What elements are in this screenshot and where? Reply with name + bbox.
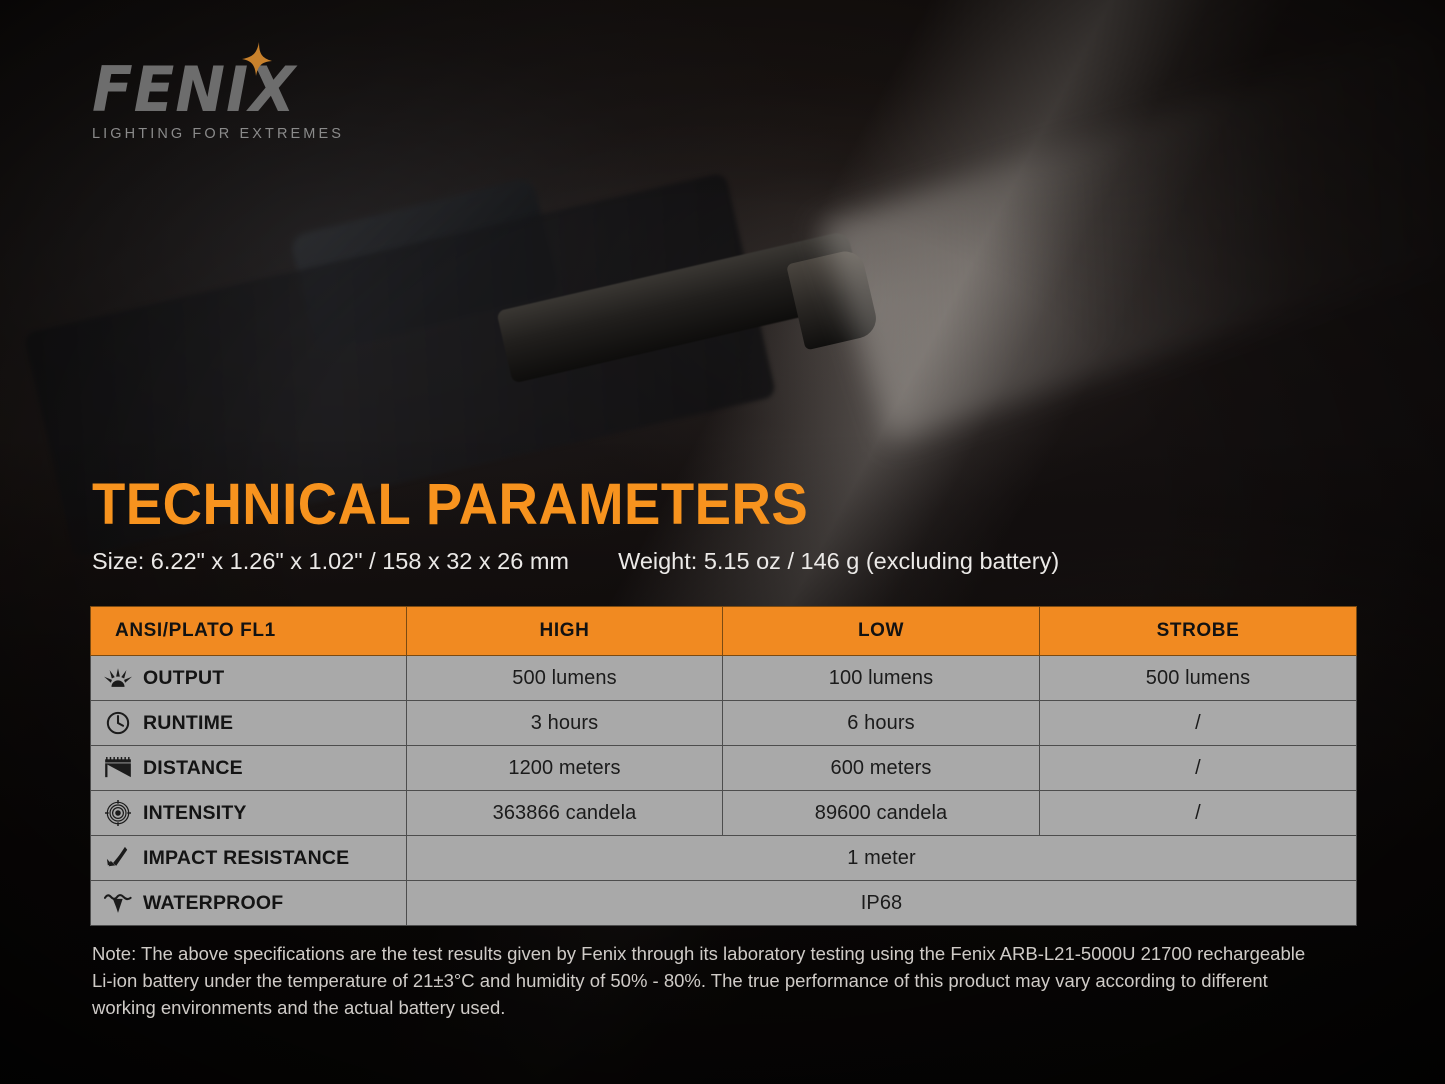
column-header-strobe: STROBE: [1040, 607, 1357, 656]
star-icon: [242, 42, 272, 76]
size-text: Size: 6.22" x 1.26" x 1.02" / 158 x 32 x…: [92, 548, 569, 574]
table-row: DISTANCE 1200 meters 600 meters /: [91, 746, 1357, 791]
row-label-text: DISTANCE: [143, 757, 243, 780]
cell-waterproof-value: IP68: [407, 881, 1357, 926]
cell-output-low: 100 lumens: [723, 656, 1040, 701]
table-row: RUNTIME 3 hours 6 hours /: [91, 701, 1357, 746]
row-label-text: OUTPUT: [143, 667, 224, 690]
row-label-runtime: RUNTIME: [91, 701, 407, 746]
product-spec-page: FENIX LIGHTING FOR EXTREMES TECHNICAL PA…: [0, 0, 1445, 1084]
cell-distance-strobe: /: [1040, 746, 1357, 791]
row-label-waterproof: WATERPROOF: [91, 881, 407, 926]
clock-icon: [103, 710, 133, 736]
size-weight-line: Size: 6.22" x 1.26" x 1.02" / 158 x 32 x…: [92, 548, 1059, 575]
table-row: WATERPROOF IP68: [91, 881, 1357, 926]
column-header-ansi: ANSI/PLATO FL1: [91, 607, 407, 656]
page-title: TECHNICAL PARAMETERS: [92, 474, 808, 536]
cell-runtime-strobe: /: [1040, 701, 1357, 746]
cell-distance-high: 1200 meters: [407, 746, 723, 791]
sunburst-icon: [103, 665, 133, 691]
row-label-text: RUNTIME: [143, 712, 233, 735]
row-label-text: IMPACT RESISTANCE: [143, 847, 349, 870]
fenix-tagline: LIGHTING FOR EXTREMES: [92, 126, 392, 142]
row-label-output: OUTPUT: [91, 656, 407, 701]
fenix-wordmark: FENIX: [92, 58, 380, 122]
table-row: OUTPUT 500 lumens 100 lumens 500 lumens: [91, 656, 1357, 701]
cell-intensity-low: 89600 candela: [723, 791, 1040, 836]
target-icon: [103, 800, 133, 826]
column-header-high: HIGH: [407, 607, 723, 656]
weight-text: Weight: 5.15 oz / 146 g (excluding batte…: [618, 548, 1059, 574]
table-row: INTENSITY 363866 candela 89600 candela /: [91, 791, 1357, 836]
row-label-impact-resistance: IMPACT RESISTANCE: [91, 836, 407, 881]
row-label-distance: DISTANCE: [91, 746, 407, 791]
beam-distance-icon: [103, 755, 133, 781]
fenix-logo: FENIX LIGHTING FOR EXTREMES: [92, 58, 392, 142]
footnote: Note: The above specifications are the t…: [92, 940, 1322, 1021]
cell-output-strobe: 500 lumens: [1040, 656, 1357, 701]
impact-arrow-icon: [103, 845, 133, 871]
cell-distance-low: 600 meters: [723, 746, 1040, 791]
row-label-text: INTENSITY: [143, 802, 247, 825]
row-label-text: WATERPROOF: [143, 892, 283, 915]
cell-intensity-high: 363866 candela: [407, 791, 723, 836]
table-header-row: ANSI/PLATO FL1 HIGH LOW STROBE: [91, 607, 1357, 656]
waterdrop-icon: [103, 890, 133, 916]
cell-runtime-low: 6 hours: [723, 701, 1040, 746]
technical-parameters-table: ANSI/PLATO FL1 HIGH LOW STROBE: [90, 606, 1357, 926]
table-row: IMPACT RESISTANCE 1 meter: [91, 836, 1357, 881]
cell-impact-resistance-value: 1 meter: [407, 836, 1357, 881]
column-header-low: LOW: [723, 607, 1040, 656]
cell-runtime-high: 3 hours: [407, 701, 723, 746]
row-label-intensity: INTENSITY: [91, 791, 407, 836]
cell-output-high: 500 lumens: [407, 656, 723, 701]
cell-intensity-strobe: /: [1040, 791, 1357, 836]
